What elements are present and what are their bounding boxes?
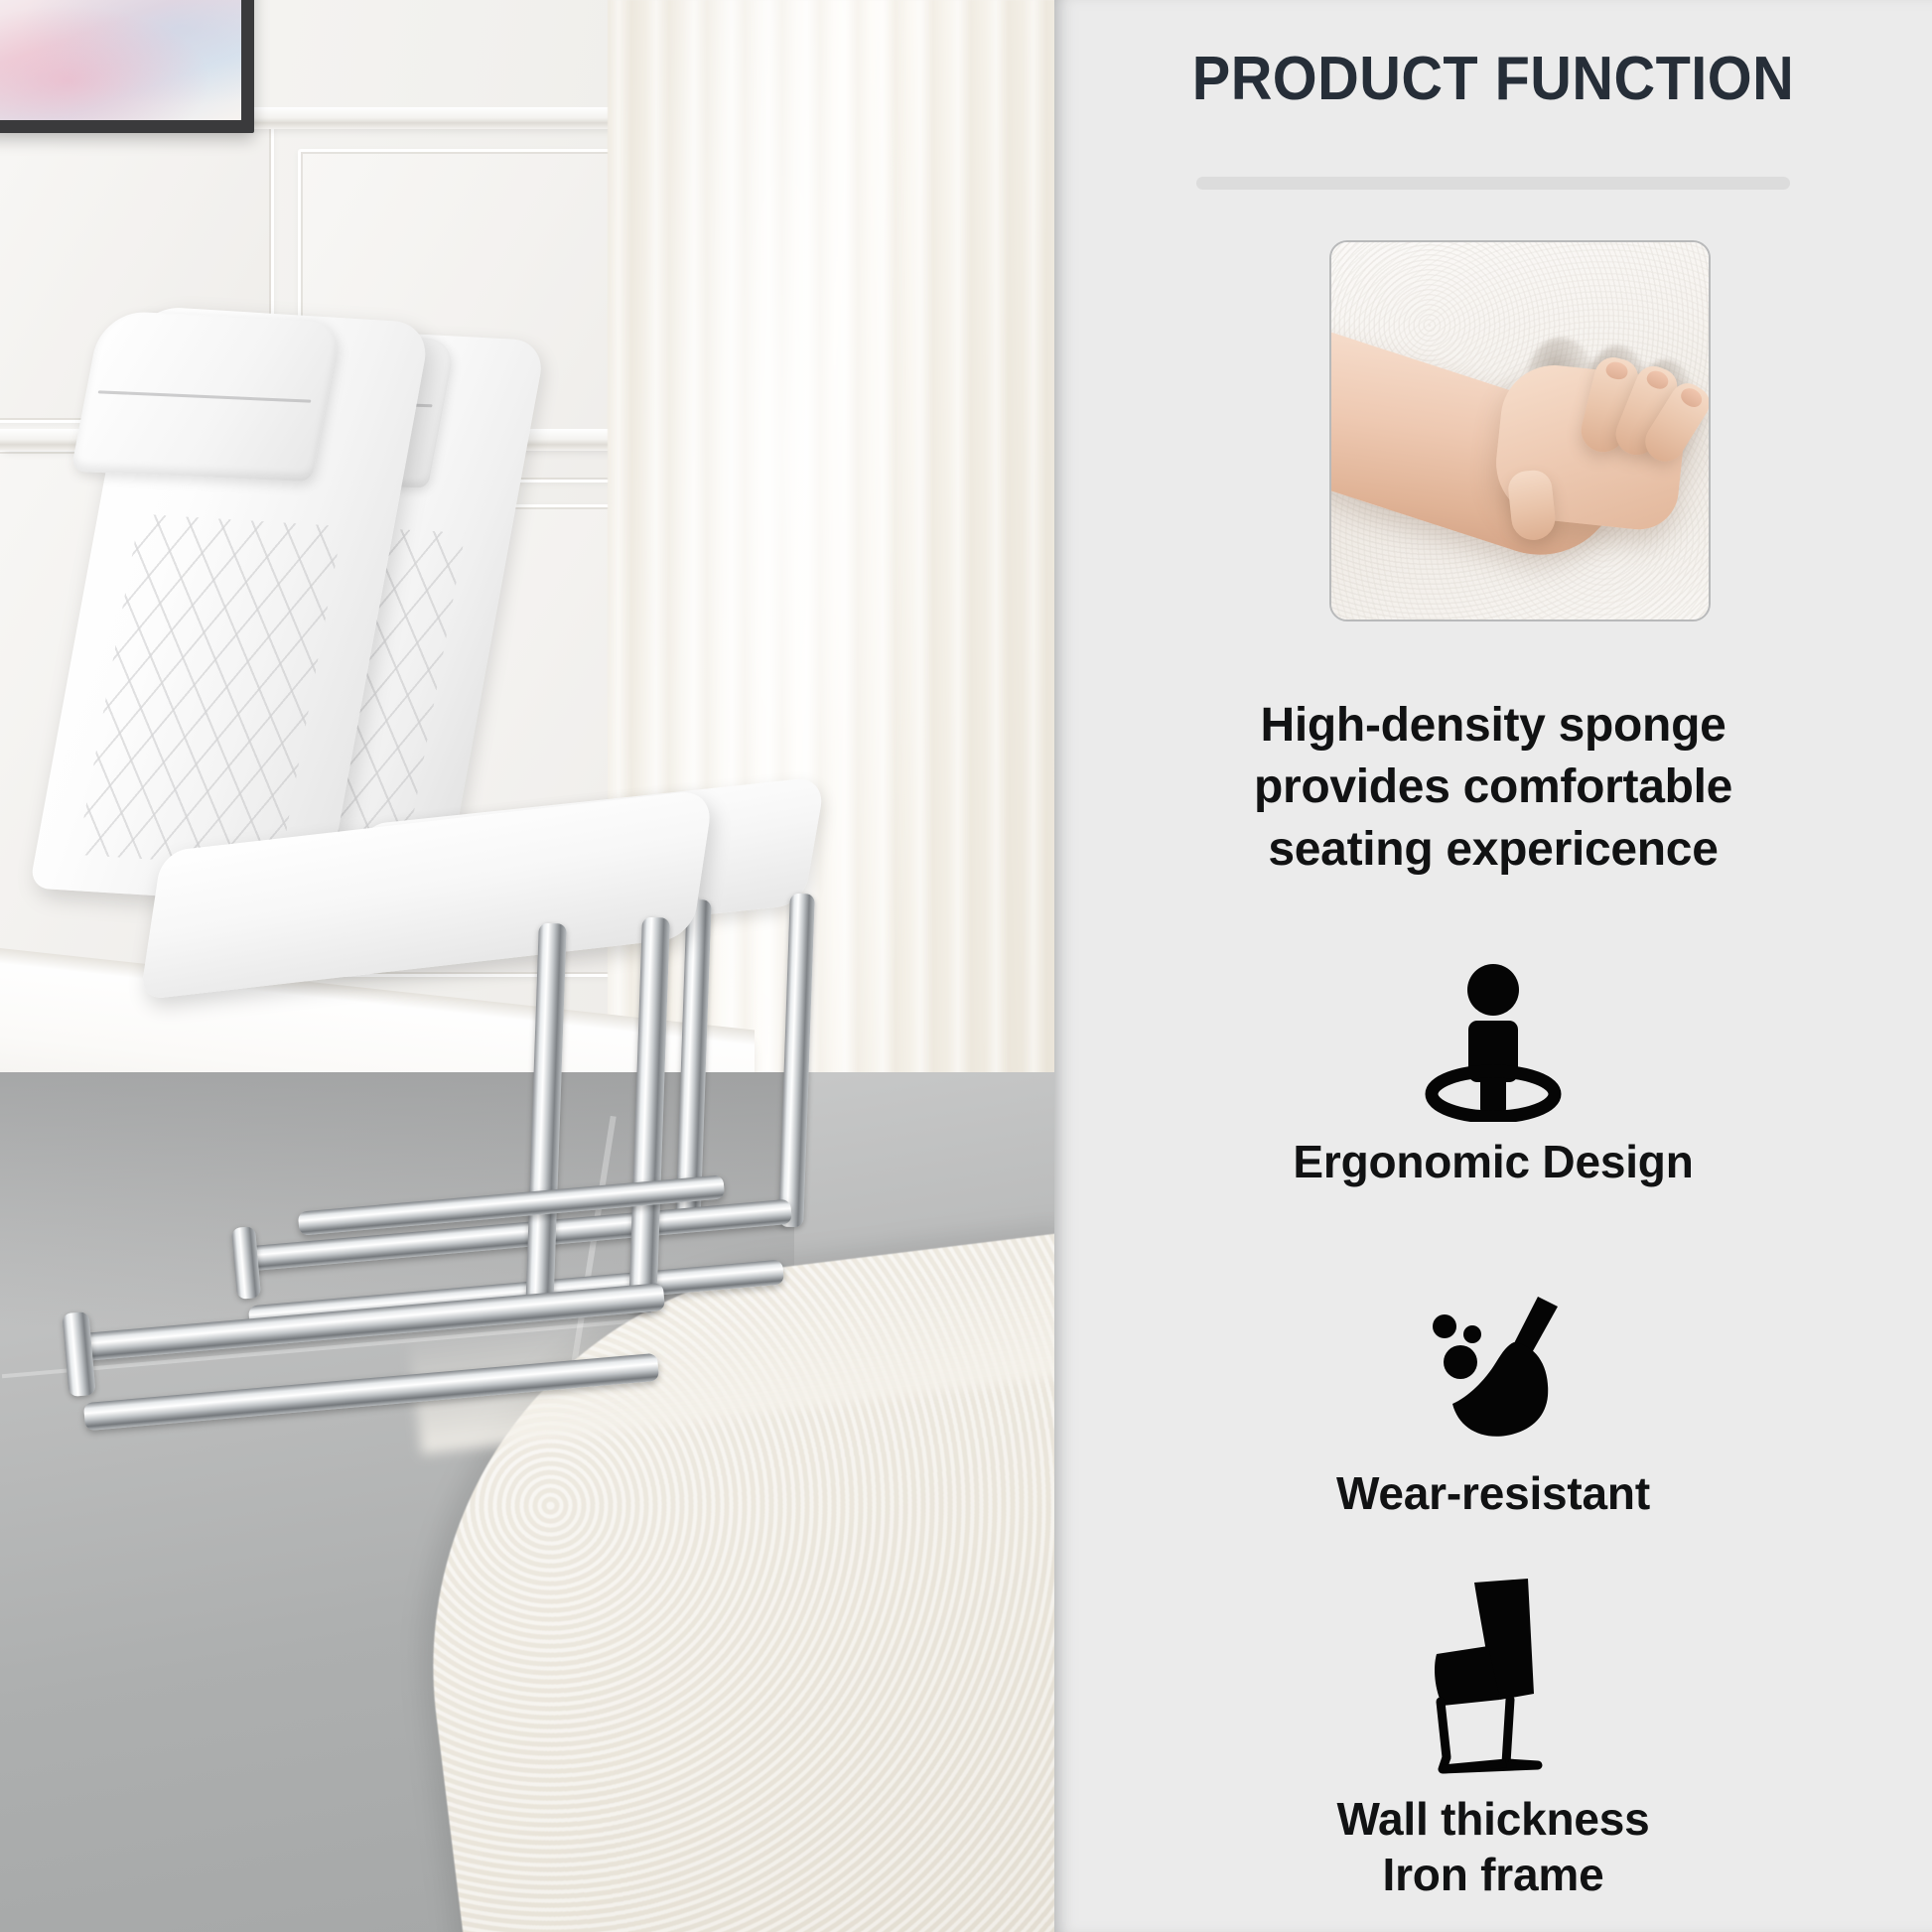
hero-caption: High-density sponge provides comfortable… (1106, 695, 1880, 881)
fingernail (1604, 359, 1629, 381)
feature-label: Ergonomic Design (1054, 1134, 1932, 1189)
framed-wall-art (0, 0, 254, 133)
cantilever-chair-icon (1054, 1569, 1932, 1779)
fingernail (1678, 384, 1706, 410)
feature-wear-resistant: Wear-resistant (1054, 1287, 1932, 1521)
quilt-stitching (77, 514, 343, 868)
feature-label-line-2: Iron frame (1054, 1847, 1932, 1902)
broom-dust-icon (1054, 1287, 1932, 1453)
product-lifestyle-photo (0, 0, 1054, 1932)
sponge-compression-photo (1329, 240, 1711, 621)
caption-line-3: seating expericence (1106, 819, 1880, 881)
caption-line-2: provides comfortable (1106, 757, 1880, 818)
product-infographic: PRODUCT FUNCTION High-density sponge (0, 0, 1932, 1932)
feature-ergonomic-design: Ergonomic Design (1054, 955, 1932, 1189)
feature-label: Wall thickness Iron frame (1054, 1791, 1932, 1902)
product-function-panel: PRODUCT FUNCTION High-density sponge (1054, 0, 1932, 1932)
feature-label: Wear-resistant (1054, 1465, 1932, 1521)
title-divider (1196, 177, 1790, 190)
page-title: PRODUCT FUNCTION (1085, 44, 1901, 114)
caption-line-1: High-density sponge (1106, 695, 1880, 757)
feature-label-line-1: Wall thickness (1336, 1793, 1649, 1845)
person-in-circle-icon (1054, 955, 1932, 1122)
artwork-image (0, 0, 241, 120)
feature-iron-frame: Wall thickness Iron frame (1054, 1569, 1932, 1902)
fingernail (1644, 368, 1671, 392)
